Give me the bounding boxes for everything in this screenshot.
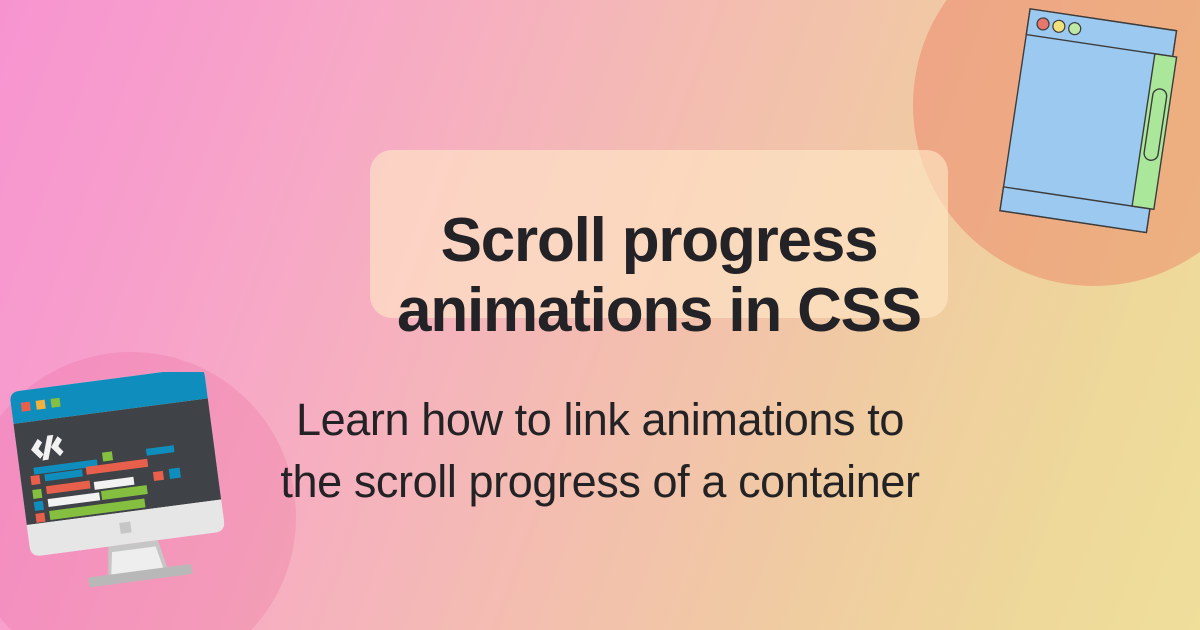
page-subtitle: Learn how to link animations to the scro… (150, 389, 1050, 513)
subtitle-line-1: Learn how to link animations to (150, 389, 1050, 451)
subtitle-line-2: the scroll progress of a container (150, 451, 1050, 513)
social-card: Scroll progress animations in CSS Learn … (0, 0, 1200, 630)
title-line-1: Scroll progress (441, 206, 878, 275)
title-line-2: animations in CSS (397, 276, 921, 345)
text-block: Scroll progress animations in CSS Learn … (0, 0, 1200, 630)
page-title: Scroll progress animations in CSS (370, 192, 948, 360)
